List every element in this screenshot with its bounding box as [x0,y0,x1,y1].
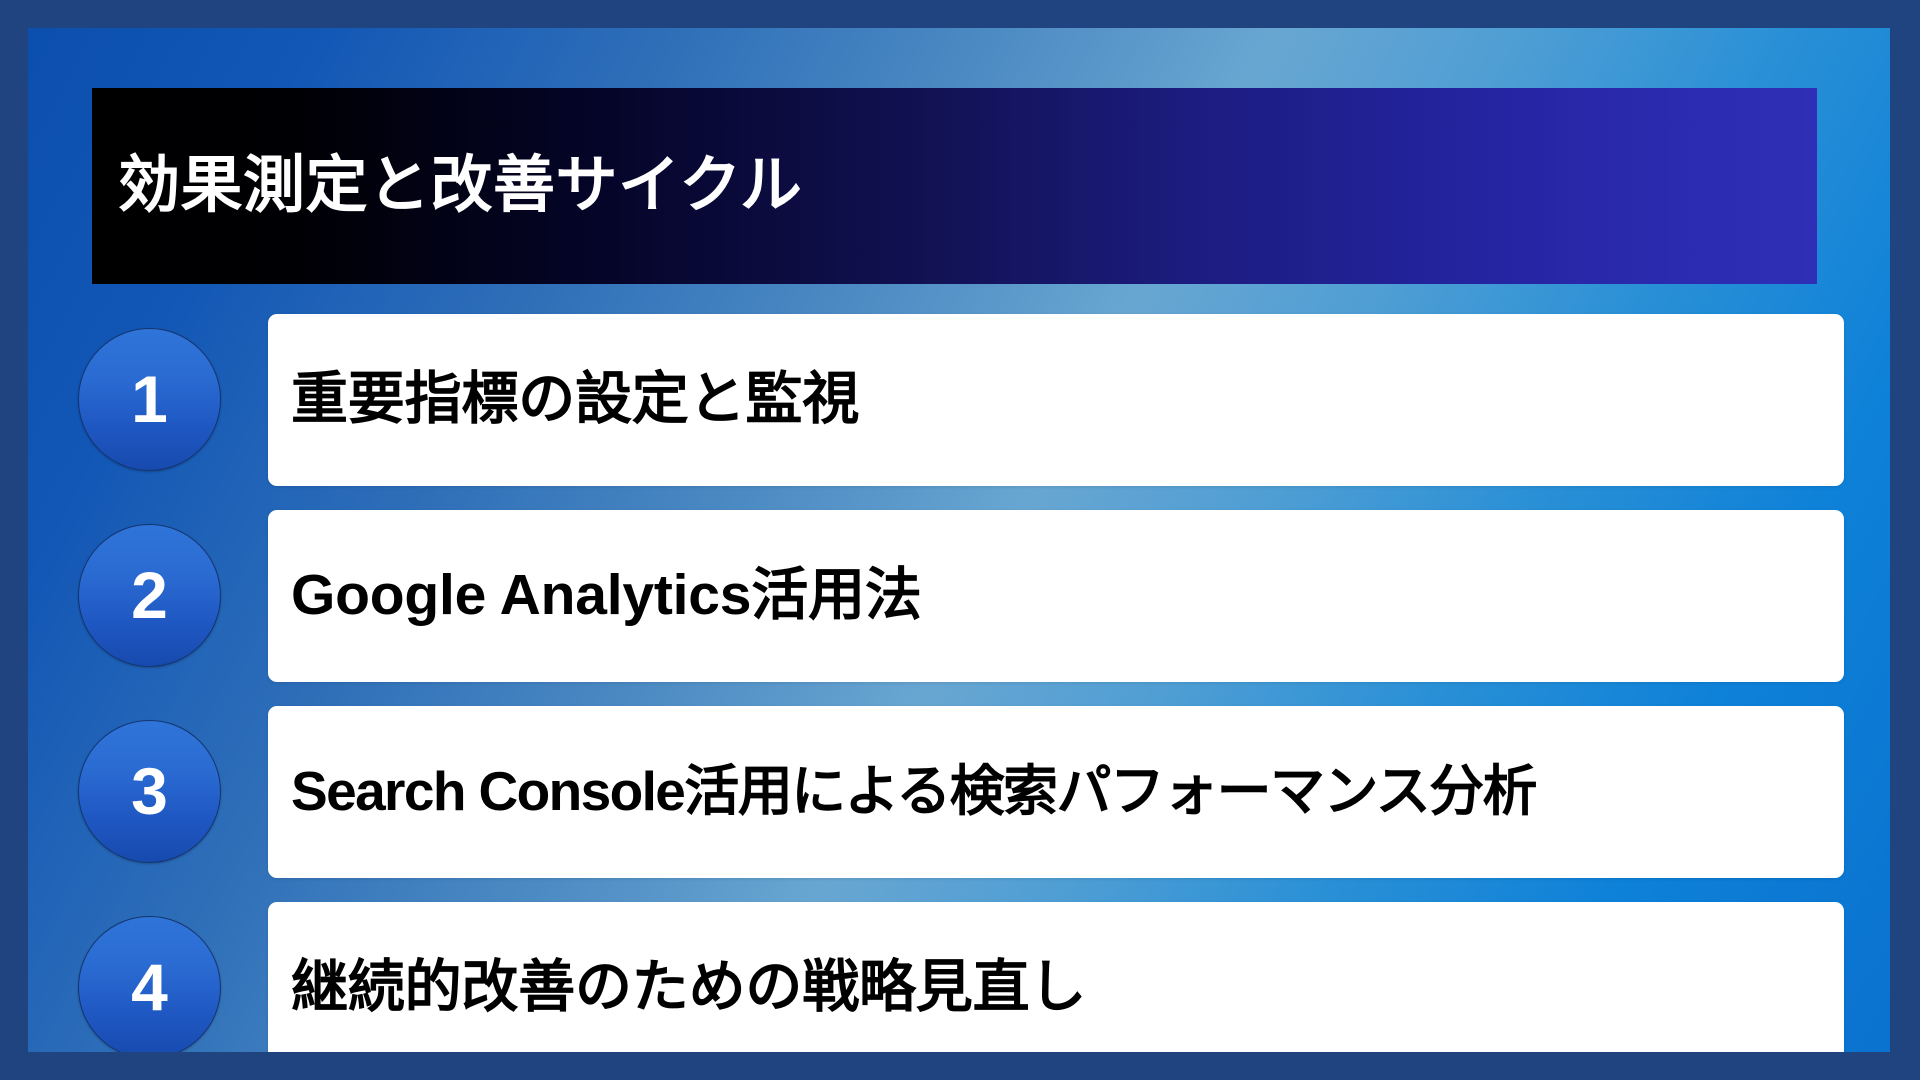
step-badge-2: 2 [78,524,221,667]
slide-title-bar: 効果測定と改善サイクル [92,88,1817,284]
slide-canvas: 効果測定と改善サイクル 1 重要指標の設定と監視 2 Google Analyt… [28,28,1890,1052]
step-number: 3 [131,758,168,824]
list-item[interactable]: 4 継続的改善のための戦略見直し [28,902,1890,1052]
step-number: 1 [131,366,168,432]
step-badge-4: 4 [78,916,221,1052]
slide-frame: 効果測定と改善サイクル 1 重要指標の設定と監視 2 Google Analyt… [0,0,1920,1080]
step-card-2[interactable]: Google Analytics活用法 [268,510,1844,682]
list-item[interactable]: 2 Google Analytics活用法 [28,510,1890,682]
numbered-list: 1 重要指標の設定と監視 2 Google Analytics活用法 3 [28,314,1890,1052]
step-label: 継続的改善のための戦略見直し [268,955,1106,1021]
list-item[interactable]: 3 Search Console活用による検索パフォーマンス分析 [28,706,1890,878]
step-label: 重要指標の設定と監視 [268,367,879,433]
step-card-1[interactable]: 重要指標の設定と監視 [268,314,1844,486]
step-badge-1: 1 [78,328,221,471]
step-label: Google Analytics活用法 [268,563,942,629]
step-card-3[interactable]: Search Console活用による検索パフォーマンス分析 [268,706,1844,878]
step-card-4[interactable]: 継続的改善のための戦略見直し [268,902,1844,1052]
list-item[interactable]: 1 重要指標の設定と監視 [28,314,1890,486]
step-badge-3: 3 [78,720,221,863]
step-number: 4 [131,954,168,1020]
step-label: Search Console活用による検索パフォーマンス分析 [268,760,1556,823]
page-title: 効果測定と改善サイクル [92,152,802,220]
step-number: 2 [131,562,168,628]
